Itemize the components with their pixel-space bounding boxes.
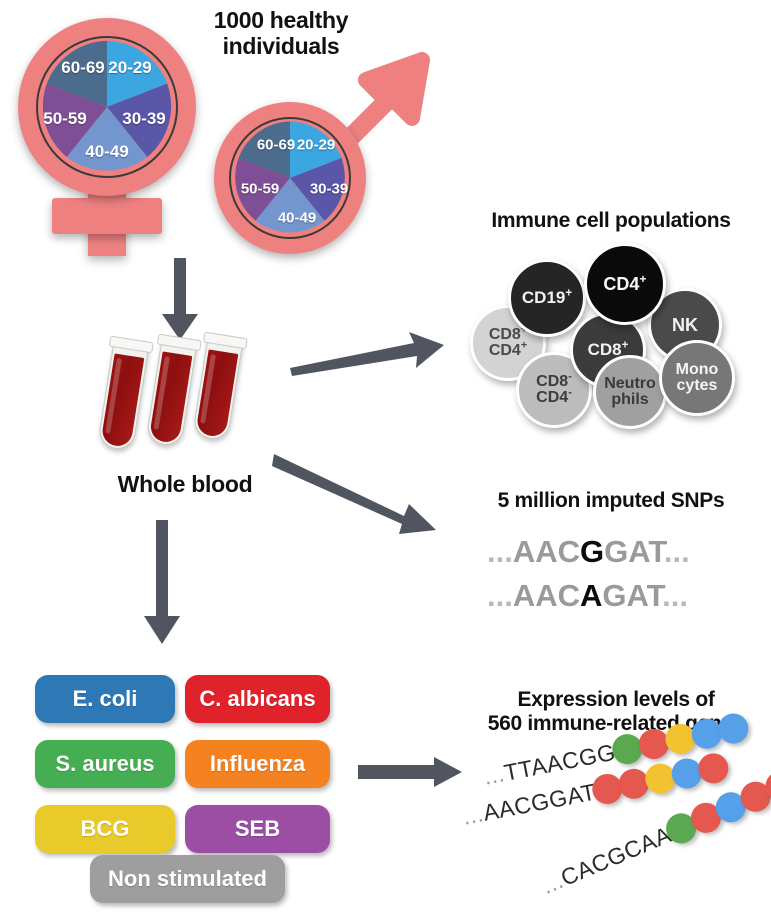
arrow-blood-to-immune [288, 328, 448, 376]
stimulus-label: S. aureus [55, 751, 154, 777]
stimulus-label: BCG [81, 816, 130, 842]
female-age-label-60-69: 60-69 [61, 58, 104, 78]
snp-prefix: ... [487, 534, 513, 569]
blood-tubes-group [100, 336, 270, 456]
expression-title-line1: Expression levels of [462, 688, 770, 712]
arrow-stimuli-to-expression [358, 756, 464, 788]
stimulus-s-aureus[interactable]: S. aureus [35, 740, 175, 788]
female-age-label-30-39: 30-39 [122, 109, 165, 129]
snp-sequence-row-1: ...AACGGAT... [487, 534, 690, 570]
snp-right: GAT [604, 534, 664, 569]
snp-variant: G [580, 534, 604, 569]
stimulus-seb[interactable]: SEB [185, 805, 330, 853]
expression-bead [715, 711, 750, 746]
female-age-label-40-49: 40-49 [85, 142, 128, 162]
male-symbol: 20-29 30-39 40-49 50-59 60-69 [196, 52, 436, 252]
male-age-label-40-49: 40-49 [278, 210, 316, 227]
stimulus-label: SEB [235, 816, 280, 842]
strand-bases: CACGCAA [557, 821, 675, 891]
stimulus-c-albicans[interactable]: C. albicans [185, 675, 330, 723]
immune-cell-label: CD8+CD4+ [489, 327, 527, 360]
female-symbol: 20-29 30-39 40-49 50-59 60-69 [8, 16, 208, 246]
immune-cell-cd19p: CD19+ [508, 259, 586, 337]
snp-right: GAT [602, 578, 662, 613]
stimulus-label: C. albicans [199, 686, 315, 712]
immune-cell-monocytes: Monocytes [659, 340, 735, 416]
whole-blood-label: Whole blood [80, 472, 290, 498]
snp-sequence-row-2: ...AACAGAT... [487, 578, 688, 614]
female-age-label-20-29: 20-29 [108, 58, 151, 78]
stimulus-label: Influenza [210, 751, 305, 777]
female-age-label-50-59: 50-59 [43, 109, 86, 129]
male-age-label-20-29: 20-29 [297, 137, 335, 154]
arrow-blood-to-stimuli [140, 520, 184, 646]
stimulus-label: E. coli [73, 686, 138, 712]
female-symbol-stem-horizontal [52, 198, 162, 234]
stimulus-non-stimulated[interactable]: Non stimulated [90, 855, 285, 903]
stimulus-bcg[interactable]: BCG [35, 805, 175, 853]
immune-cell-label: Monocytes [676, 362, 719, 395]
strand-sequence: ...CACGCAA [538, 821, 676, 900]
blood-tube-1 [97, 337, 150, 451]
tube-blood [195, 349, 238, 438]
immune-cell-label: CD8-CD4- [536, 374, 572, 407]
stimulus-label: Non stimulated [108, 866, 267, 892]
snp-left: AAC [513, 578, 580, 613]
male-age-label-50-59: 50-59 [241, 181, 279, 198]
stimulus-influenza[interactable]: Influenza [185, 740, 330, 788]
male-age-label-60-69: 60-69 [257, 137, 295, 154]
immune-cell-label: CD4+ [603, 275, 646, 293]
immune-cell-cd4p: CD4+ [584, 243, 666, 325]
male-age-label-30-39: 30-39 [310, 181, 348, 198]
snp-prefix: ... [487, 578, 513, 613]
snp-suffix: ... [662, 578, 688, 613]
snp-suffix: ... [664, 534, 690, 569]
immune-cell-label: Neutrophils [604, 376, 656, 409]
snp-left: AAC [513, 534, 580, 569]
immune-cell-label: CD19+ [522, 289, 572, 306]
blood-tube-2 [145, 335, 197, 447]
stimulus-e-coli[interactable]: E. coli [35, 675, 175, 723]
immune-cell-label: NK [672, 316, 698, 334]
snps-title: 5 million imputed SNPs [452, 489, 770, 513]
strand-sequence: ...AACGGAT [460, 778, 598, 830]
cohort-title-line1: 1000 healthy [186, 8, 376, 34]
arrow-cohort-to-blood [158, 258, 202, 342]
immune-populations-title: Immune cell populations [452, 209, 770, 233]
arrow-blood-to-snps [272, 450, 440, 540]
snp-variant: A [580, 578, 602, 613]
immune-cell-neutrophils: Neutrophils [593, 355, 667, 429]
expression-bead [696, 751, 731, 786]
